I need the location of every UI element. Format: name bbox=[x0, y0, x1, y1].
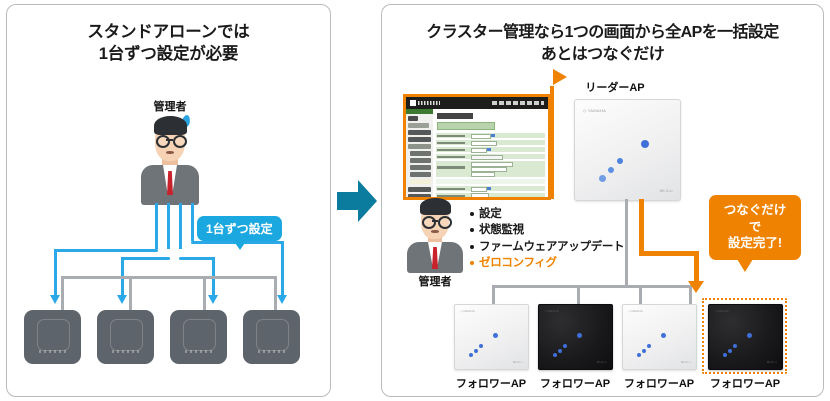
cable-arrow-4 bbox=[277, 295, 287, 304]
per-device-setup-badge: 1台ずつ設定 bbox=[197, 216, 282, 241]
follower-led-3 bbox=[563, 344, 567, 348]
follower-led-2 bbox=[558, 349, 562, 353]
follower-led-3 bbox=[733, 344, 737, 348]
follower-ap-1-label: フォロワーAP bbox=[448, 375, 534, 391]
gui-nav-item[interactable] bbox=[410, 165, 431, 170]
cable-bus-b bbox=[121, 257, 170, 260]
follower-led-2 bbox=[474, 349, 478, 353]
follower-ap-1: ◇YAMAHA WLX••• bbox=[454, 304, 529, 370]
avatar-glasses-left bbox=[422, 216, 436, 229]
cable-arrow-3 bbox=[208, 295, 218, 304]
standalone-ap-1 bbox=[24, 310, 81, 364]
gui-nav-item[interactable] bbox=[410, 151, 431, 156]
standalone-panel: スタンドアローンでは 1台ずつ設定が必要 管理者 1台ずつ bbox=[6, 4, 331, 397]
gui-field-input[interactable] bbox=[471, 155, 503, 160]
follower-ap-3-label: フォロワーAP bbox=[616, 375, 702, 391]
follower-led-1 bbox=[723, 353, 727, 357]
follower-bus bbox=[492, 285, 692, 288]
gui-nav-item[interactable] bbox=[408, 144, 431, 149]
left-title-line1: スタンドアローンでは bbox=[7, 21, 330, 43]
gui-field-input[interactable] bbox=[471, 187, 487, 192]
gui-field-label bbox=[437, 156, 465, 159]
cable-trunk-1 bbox=[155, 203, 158, 249]
zeroconfig-path-horizontal bbox=[639, 251, 699, 256]
gui-field-label bbox=[437, 188, 465, 191]
cable-bus-a bbox=[54, 249, 158, 252]
avatar-mouth bbox=[166, 151, 174, 154]
avatar-glasses-left bbox=[156, 135, 170, 148]
right-panel-title: クラスター管理なら1つの画面から全APを一括設定 あとはつなぐだけ bbox=[382, 22, 823, 65]
follower-model-label: WLX••• bbox=[681, 361, 691, 364]
ap-led-strip bbox=[258, 350, 285, 353]
right-admin-avatar bbox=[404, 197, 466, 273]
avatar-glasses-right bbox=[173, 135, 187, 148]
feature-list: 設定 状態監視 ファームウェアアップデート ゼロコンフィグ bbox=[470, 206, 624, 271]
lan-drop-1 bbox=[61, 276, 64, 310]
left-admin-label: 管理者 bbox=[125, 98, 215, 114]
follower-brand-mark: ◇YAMAHA bbox=[714, 310, 729, 313]
zeroconfig-path-down bbox=[694, 251, 699, 283]
screenshot-to-leader-arrowhead-icon bbox=[553, 69, 567, 85]
ap-inner-frame bbox=[256, 319, 290, 351]
gui-field-input[interactable] bbox=[471, 172, 495, 177]
feature-item-zeroconfig: ゼロコンフィグ bbox=[470, 255, 624, 271]
cable-drop-4 bbox=[281, 241, 284, 297]
right-title-line2: あとはつなぐだけ bbox=[382, 44, 823, 66]
avatar-mouth bbox=[431, 230, 439, 233]
gui-nav-item[interactable] bbox=[410, 158, 431, 163]
callout-tail bbox=[737, 259, 753, 272]
lan-drop-3 bbox=[203, 276, 206, 310]
left-title-line2: 1台ずつ設定が必要 bbox=[7, 43, 330, 65]
gui-field-label bbox=[437, 142, 465, 145]
feature-item: 設定 bbox=[470, 206, 624, 222]
follower-brand-mark: ◇YAMAHA bbox=[628, 310, 643, 313]
avatar-hair bbox=[420, 198, 451, 215]
feature-item: ファームウェアアップデート bbox=[470, 239, 624, 255]
leader-ap-led-1 bbox=[599, 175, 606, 182]
follower-led-1 bbox=[469, 353, 473, 357]
gui-nav-item[interactable] bbox=[408, 116, 418, 121]
follower-led-1 bbox=[637, 353, 641, 357]
leader-ap-brand-mark: ◇ YAMAHA bbox=[583, 108, 606, 113]
leader-ap-led-3 bbox=[617, 158, 623, 164]
avatar-hair bbox=[154, 116, 187, 135]
gui-field-button[interactable] bbox=[487, 187, 491, 190]
gui-nav-item[interactable] bbox=[408, 123, 429, 128]
gui-nav-item[interactable] bbox=[410, 172, 431, 177]
cable-arrow-1 bbox=[50, 295, 60, 304]
cluster-panel: クラスター管理なら1つの画面から全APを一括設定 あとはつなぐだけ リーダーAP bbox=[381, 4, 824, 397]
follower-led-4 bbox=[577, 333, 582, 338]
left-panel-title: スタンドアローンでは 1台ずつ設定が必要 bbox=[7, 21, 330, 66]
follower-led-1 bbox=[553, 353, 557, 357]
follower-model-label: WLX••• bbox=[513, 361, 523, 364]
badge-tail bbox=[233, 240, 247, 250]
cable-drop-1 bbox=[54, 249, 57, 297]
cable-trunk-4 bbox=[191, 203, 194, 241]
gui-nav-item[interactable] bbox=[408, 187, 431, 192]
arrow-head bbox=[358, 180, 377, 222]
per-device-setup-badge-label: 1台ずつ設定 bbox=[206, 222, 273, 236]
leader-to-bus bbox=[625, 253, 628, 287]
yamaha-logo-icon bbox=[410, 100, 440, 106]
follower-led-2 bbox=[728, 349, 732, 353]
ap-inner-frame bbox=[183, 319, 217, 351]
avatar-glasses-right bbox=[438, 216, 452, 229]
avatar-glasses-bridge bbox=[432, 220, 438, 222]
transition-arrow-icon bbox=[337, 180, 377, 222]
leader-ap-led-2 bbox=[608, 167, 614, 173]
lan-drop-2 bbox=[129, 276, 132, 310]
left-admin-avatar bbox=[135, 113, 205, 205]
gui-field-input[interactable] bbox=[471, 193, 489, 198]
follower-led-4 bbox=[747, 333, 752, 338]
gui-field-label bbox=[437, 149, 465, 152]
leader-ap-led-4 bbox=[641, 140, 649, 148]
gui-header-links bbox=[492, 101, 544, 105]
follower-led-2 bbox=[642, 349, 646, 353]
gui-field-label bbox=[437, 166, 465, 169]
follower-ap-4: ◇YAMAHA WLX••• bbox=[708, 304, 783, 370]
follower-ap-4-label: フォロワーAP bbox=[702, 375, 788, 391]
follower-led-4 bbox=[493, 333, 498, 338]
ap-led-strip bbox=[112, 350, 139, 353]
leader-cable-trunk bbox=[625, 199, 628, 255]
follower-led-4 bbox=[661, 333, 666, 338]
follower-model-label: WLX••• bbox=[597, 361, 607, 364]
gui-field-label bbox=[437, 135, 465, 138]
gui-field-button[interactable] bbox=[487, 148, 491, 151]
feature-item: 状態監視 bbox=[470, 222, 624, 238]
gui-header-bar bbox=[406, 97, 548, 109]
ap-inner-frame bbox=[110, 319, 144, 351]
gui-nav-item[interactable] bbox=[408, 137, 431, 142]
gui-content bbox=[433, 109, 548, 197]
gui-form-row bbox=[436, 179, 545, 185]
gui-field-input[interactable] bbox=[471, 134, 491, 139]
follower-ap-3: ◇YAMAHA WLX••• bbox=[622, 304, 697, 370]
lan-drop-4 bbox=[274, 276, 277, 310]
follower-brand-mark: ◇YAMAHA bbox=[544, 310, 559, 313]
cable-trunk-2 bbox=[167, 203, 170, 249]
lan-bus bbox=[61, 276, 277, 279]
leader-ap-label: リーダーAP bbox=[560, 79, 670, 95]
leader-ap-device: ◇ YAMAHA WLX••• bbox=[574, 99, 681, 201]
follower-model-label: WLX••• bbox=[767, 361, 777, 364]
callout-line2: 設定完了! bbox=[719, 235, 791, 252]
follower-brand-mark: ◇YAMAHA bbox=[460, 310, 475, 313]
ap-led-strip bbox=[185, 350, 212, 353]
cable-arrow-2 bbox=[117, 295, 127, 304]
ap-inner-frame bbox=[37, 319, 71, 351]
gui-field-input[interactable] bbox=[471, 148, 487, 153]
screenshot-to-leader-arrow-icon bbox=[550, 86, 554, 199]
avatar-glasses-bridge bbox=[166, 139, 173, 141]
callout-line1: つなぐだけで bbox=[719, 202, 791, 235]
follower-ap-2-label: フォロワーAP bbox=[532, 375, 618, 391]
gui-section-heading bbox=[437, 122, 495, 130]
right-title-line1: クラスター管理なら1つの画面から全APを一括設定 bbox=[382, 22, 823, 44]
gui-field-input[interactable] bbox=[471, 141, 497, 146]
ap-led-strip bbox=[39, 350, 66, 353]
gui-page-heading bbox=[437, 113, 473, 119]
standalone-ap-2 bbox=[97, 310, 154, 364]
gui-sidebar bbox=[406, 109, 433, 197]
zeroconfig-path-vertical bbox=[639, 199, 644, 255]
gui-nav-item[interactable] bbox=[408, 130, 431, 135]
cable-trunk-3 bbox=[179, 203, 182, 249]
standalone-ap-4 bbox=[243, 310, 300, 364]
gui-field-button[interactable] bbox=[491, 134, 495, 137]
cluster-gui-screenshot[interactable] bbox=[403, 94, 551, 200]
zeroconfig-callout: つなぐだけで 設定完了! bbox=[709, 195, 801, 260]
gui-nav-item-selected[interactable] bbox=[410, 179, 431, 184]
gui-sidebar-accent bbox=[406, 109, 433, 114]
standalone-ap-3 bbox=[170, 310, 227, 364]
zeroconfig-arrow-icon bbox=[688, 281, 704, 293]
leader-ap-model-label: WLX••• bbox=[660, 189, 673, 193]
right-admin-label: 管理者 bbox=[400, 273, 470, 289]
follower-ap-2: ◇YAMAHA WLX••• bbox=[538, 304, 613, 370]
follower-led-3 bbox=[647, 344, 651, 348]
follower-led-3 bbox=[479, 344, 483, 348]
cable-bus-c bbox=[179, 257, 215, 260]
